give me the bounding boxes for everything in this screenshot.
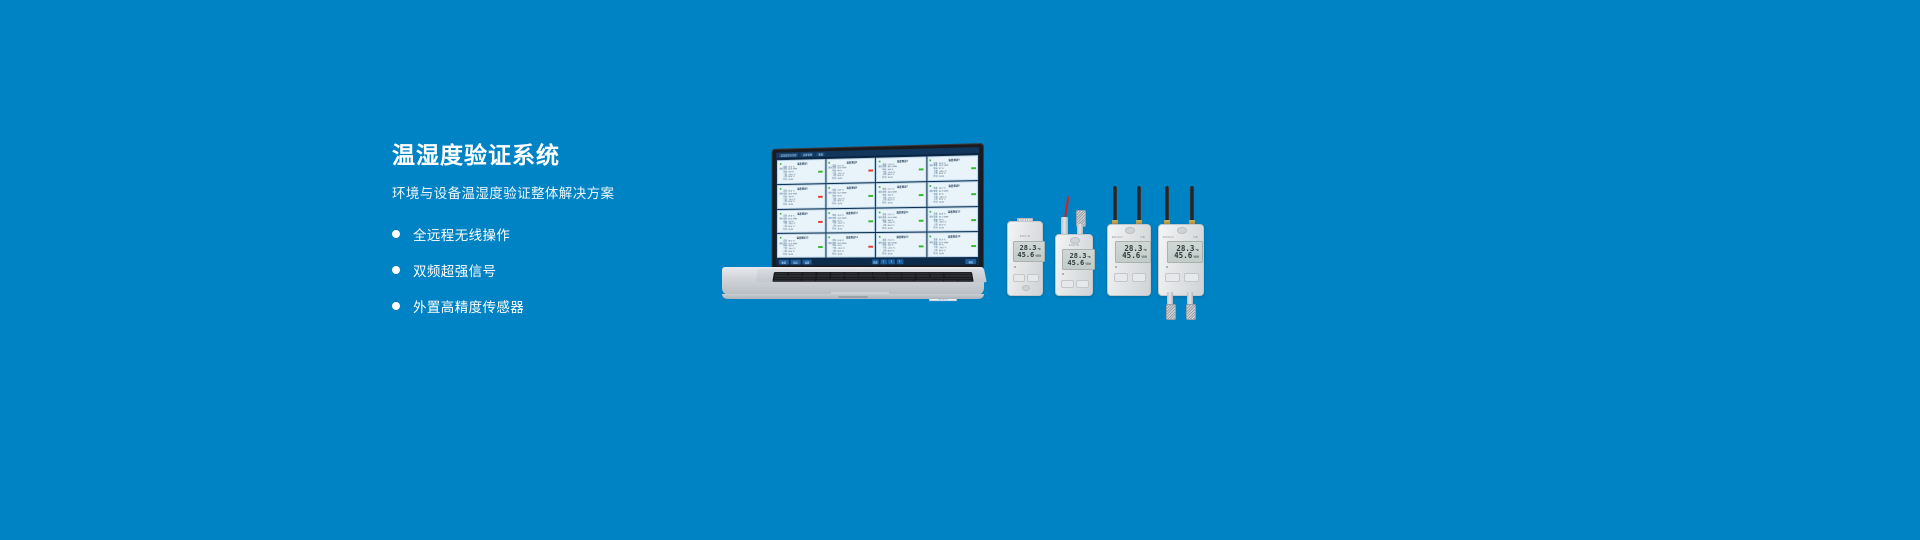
pagination: 首页 1 2 3: [872, 260, 903, 265]
sensor-row-key: 时间:: [878, 253, 887, 256]
lcd-hum-unit: %RH: [1085, 263, 1091, 266]
pager-home[interactable]: 首页: [872, 260, 879, 265]
bullet-icon: [392, 266, 400, 274]
device-data-logger: ENGIN 28.3 ℃ 45.6 %RH: [1007, 218, 1041, 294]
sensor-row-key: 时间:: [828, 178, 837, 181]
sensor-row-key: 时间:: [929, 253, 939, 256]
sensor-card-row: 时间:10:25: [929, 227, 975, 230]
sensor-card[interactable]: 温度测试13温度:28.1 ℃相对湿度:45.0 %RH电量:100 %下限:-…: [777, 234, 825, 258]
status-dot-icon: [929, 236, 931, 238]
bullet-icon: [392, 230, 400, 238]
probe-connector: [1061, 217, 1068, 235]
device-brand-label: ENGIN: [1163, 235, 1174, 239]
antenna-right: [1137, 186, 1141, 222]
laptop-lid: 温湿度验证系统 设备管理 数据 温度测试1温度:28.3 ℃相对湿度:45.6 …: [772, 143, 984, 276]
lcd-hum-unit: %RH: [1193, 256, 1199, 259]
sensor-card-row: 时间:10:25: [828, 253, 872, 256]
device-button-right[interactable]: [1076, 280, 1089, 288]
sensor-row-key: 时间:: [779, 254, 788, 257]
sensor-card[interactable]: 温度测试15温度:27.0 ℃相对湿度:48.9 %RH电量:100 %下限:-…: [876, 233, 926, 258]
sensor-card[interactable]: 温度测试16温度:26.3 ℃相对湿度:50.7 %RH电量:99 %下限:-2…: [927, 232, 978, 257]
sensor-card[interactable]: 温度测试7温度:27.2 ℃相对湿度:46.8 %RH电量:100 %下限:-2…: [876, 182, 926, 207]
exit-button[interactable]: 退出: [966, 259, 977, 264]
sensor-card-rows: 温度:24.9 ℃相对湿度:55.7 %RH电量:92 %下限:-20.0 ℃上…: [828, 189, 872, 206]
device-body: ENGIN 28.3 ℃ 45.6 %RH: [1007, 221, 1043, 296]
lcd-hum-unit: %RH: [1141, 256, 1147, 259]
status-dot-icon: [929, 159, 931, 161]
lcd-humidity-line: 45.6 %RH: [1122, 252, 1147, 260]
sensor-row-value: 10:25: [939, 227, 976, 230]
sensor-row-value: 10:25: [837, 228, 872, 231]
device-model-label: NB: [1193, 235, 1198, 239]
status-led-icon: [1166, 266, 1168, 268]
sensor-row-key: 时间:: [828, 253, 837, 256]
sensor-card[interactable]: 温度测试6温度:24.9 ℃相对湿度:55.7 %RH电量:92 %下限:-20…: [826, 183, 875, 208]
bullet-icon: [392, 302, 400, 310]
sensor-row-key: 时间:: [878, 202, 887, 205]
sensor-row-value: 10:25: [888, 227, 924, 230]
sensor-card-row: 时间:10:25: [929, 175, 975, 179]
sensor-row-key: 时间:: [828, 228, 837, 231]
app-bottom-bar: 新增 导出 设置 首页 1 2 3 退出: [776, 258, 979, 265]
sensor-row-key: 时间:: [828, 203, 837, 206]
tab-data[interactable]: 数据: [817, 152, 825, 156]
device-lcd-display: 28.3 ℃ 45.6 %RH: [1167, 241, 1203, 263]
status-dot-icon: [929, 185, 931, 187]
device-button-right[interactable]: [1184, 273, 1199, 282]
sensor-card-row: 时间:10:25: [929, 201, 975, 204]
sensor-card[interactable]: 温度测试2温度:25.1 ℃相对湿度:52.4 %RH电量:98 %下限:-20…: [826, 158, 875, 183]
list-item: 全远程无线操作: [392, 224, 732, 244]
sensor-row-value: 10:25: [788, 203, 822, 206]
list-item: 外置高精度传感器: [392, 296, 732, 316]
lcd-humidity-line: 45.6 %RH: [1174, 252, 1199, 260]
pager-page-1[interactable]: 1: [880, 260, 887, 265]
sensor-row-value: 10:25: [888, 253, 924, 256]
sensor-card-rows: 温度:26.8 ℃相对湿度:51.1 %RH电量:96 %下限:-20.0 ℃上…: [929, 213, 975, 230]
sensor-row-value: 10:25: [939, 253, 976, 256]
sensor-card-rows: 温度:26.1 ℃相对湿度:49.5 %RH电量:95 %下限:-20.0 ℃上…: [929, 188, 975, 205]
sensor-card-row: 时间:10:25: [828, 203, 872, 206]
status-dot-icon: [828, 187, 830, 189]
status-dot-icon: [779, 237, 781, 239]
lcd-hum-value: 45.6: [1067, 260, 1084, 267]
banner-copy-block: 温湿度验证系统 环境与设备温湿度验证整体解决方案 全远程无线操作 双频超强信号 …: [392, 140, 732, 332]
pager-page-3[interactable]: 3: [896, 260, 903, 265]
sensor-card-rows: 温度:27.0 ℃相对湿度:48.9 %RH电量:100 %下限:-20.0 ℃…: [878, 239, 923, 255]
sensor-card[interactable]: 温度测试8温度:26.1 ℃相对湿度:49.5 %RH电量:95 %下限:-20…: [927, 181, 978, 207]
device-brand-label: ENGIN: [1112, 235, 1123, 239]
sensor-card[interactable]: 温度测试11温度:27.5 ℃相对湿度:47.6 %RH电量:100 %下限:-…: [876, 207, 926, 232]
device-button-left[interactable]: [1165, 273, 1180, 282]
sensor-card-rows: 温度:25.1 ℃相对湿度:52.4 %RH电量:98 %下限:-20.0 ℃上…: [828, 164, 872, 181]
laptop-screen: 温湿度验证系统 设备管理 数据 温度测试1温度:28.3 ℃相对湿度:45.6 …: [776, 147, 979, 265]
device-model-label: NB: [1140, 235, 1145, 239]
status-led-icon: [1115, 266, 1117, 268]
sensor-row-key: 时间:: [929, 176, 939, 179]
laptop-open-notch: [838, 296, 868, 298]
sensor-card-rows: 温度:28.3 ℃相对湿度:45.6 %RH电量:100 %下限:-20.0 ℃…: [779, 165, 822, 182]
feature-list: 全远程无线操作 双频超强信号 外置高精度传感器: [392, 224, 732, 316]
sensor-card[interactable]: 温度测试9温度:28.6 ℃相对湿度:43.2 %RH电量:100 %下限:-2…: [777, 209, 825, 233]
tab-monitor[interactable]: 温湿度验证系统: [779, 153, 799, 158]
sensor-card[interactable]: 温度测试1温度:28.3 ℃相对湿度:45.6 %RH电量:100 %下限:-2…: [777, 159, 825, 184]
sensor-card-row: 时间:10:25: [828, 177, 872, 181]
sensor-card-rows: 温度:26.5 ℃相对湿度:50.2 %RH电量:97 %下限:-20.0 ℃上…: [929, 162, 975, 179]
sensor-row-value: 10:25: [888, 176, 924, 179]
device-lcd-display: 28.3 ℃ 45.6 %RH: [1115, 241, 1151, 263]
hanging-hole: [1070, 237, 1080, 244]
sensor-row-key: 时间:: [779, 204, 788, 207]
status-dot-icon: [878, 211, 880, 213]
sensor-card-rows: 温度:25.8 ℃相对湿度:54.2 %RH电量:93 %下限:-20.0 ℃上…: [828, 240, 872, 256]
sensor-row-key: 时间:: [929, 202, 939, 205]
device-body: ENGIN NB 28.3 ℃ 45.6 %RH: [1158, 224, 1204, 296]
page-title: 温湿度验证系统: [392, 140, 732, 170]
status-dot-icon: [828, 162, 830, 164]
sensor-row-key: 时间:: [779, 229, 788, 232]
lcd-temp-unit: ℃: [1087, 256, 1091, 259]
lcd-temp-unit: ℃: [1037, 248, 1041, 251]
probe-cable: [1064, 196, 1069, 218]
sensor-card-rows: 温度:27.8 ℃相对湿度:48.1 %RH电量:100 %下限:-20.0 ℃…: [878, 163, 923, 180]
device-body: ENGIN 28.3 ℃ 45.6 %RH: [1055, 234, 1093, 296]
hanging-hole: [1125, 227, 1135, 234]
sensor-card-rows: 温度:28.1 ℃相对湿度:45.0 %RH电量:100 %下限:-20.0 ℃…: [779, 240, 822, 256]
laptop-keyboard: [772, 272, 973, 282]
device-lcd-display: 28.3 ℃ 45.6 %RH: [1062, 249, 1095, 270]
sensor-card-row: 时间:10:25: [929, 253, 975, 256]
sensor-row-value: 10:25: [837, 203, 872, 206]
sensor-card-grid: 温度测试1温度:28.3 ℃相对湿度:45.6 %RH电量:100 %下限:-2…: [776, 154, 979, 259]
status-dot-icon: [779, 163, 781, 165]
lcd-hum-value: 45.6: [1017, 252, 1034, 259]
sensor-card-rows: 温度:27.2 ℃相对湿度:46.8 %RH电量:100 %下限:-20.0 ℃…: [878, 189, 923, 206]
status-dot-icon: [779, 188, 781, 190]
sensor-row-key: 时间:: [878, 177, 887, 180]
status-dot-icon: [828, 212, 830, 214]
antenna-left: [1113, 186, 1117, 222]
hanging-hole: [1177, 227, 1187, 234]
sensor-card-rows: 温度:28.0 ℃相对湿度:44.3 %RH电量:100 %下限:-20.0 ℃…: [779, 190, 822, 206]
status-dot-icon: [828, 237, 830, 239]
page-subtitle: 环境与设备温湿度验证整体解决方案: [392, 184, 732, 204]
product-banner: 温湿度验证系统 环境与设备温湿度验证整体解决方案 全远程无线操作 双频超强信号 …: [0, 0, 1920, 540]
lcd-humidity-line: 45.6 %RH: [1017, 252, 1041, 259]
key-row: [773, 280, 972, 281]
lcd-hum-value: 45.6: [1122, 252, 1140, 260]
sensor-card[interactable]: 温度测试4温度:26.5 ℃相对湿度:50.2 %RH电量:97 %下限:-20…: [927, 155, 978, 181]
status-dot-icon: [878, 186, 880, 188]
feature-label: 全远程无线操作: [413, 224, 510, 244]
sensor-row-value: 10:25: [788, 228, 822, 231]
probe-sensor-head-left: [1166, 304, 1176, 320]
sensor-row-value: 10:25: [939, 201, 976, 204]
sensor-card-row: 时间:10:25: [779, 179, 822, 183]
sensor-card-row: 时间:10:25: [828, 228, 872, 231]
device-probe-logger: ENGIN 28.3 ℃ 45.6 %RH: [1055, 196, 1091, 294]
sensor-card-row: 时间:10:25: [779, 228, 822, 231]
sensor-row-value: 10:25: [888, 202, 924, 205]
settings-button[interactable]: 设置: [802, 260, 812, 265]
sensor-card-row: 时间:10:25: [878, 227, 923, 230]
pager-page-2[interactable]: 2: [888, 260, 895, 265]
probe-sensor-head-right: [1186, 304, 1196, 320]
sensor-card-row: 时间:10:25: [878, 253, 923, 256]
sensor-row-key: 时间:: [878, 228, 887, 231]
sensor-row-value: 10:25: [939, 175, 976, 178]
device-button-right[interactable]: [1027, 274, 1039, 282]
sensor-card[interactable]: 温度测试5温度:28.0 ℃相对湿度:44.3 %RH电量:100 %下限:-2…: [777, 184, 825, 209]
lcd-hum-value: 45.6: [1174, 252, 1192, 260]
device-brand-label: ENGIN: [1008, 235, 1042, 238]
add-button[interactable]: 新增: [779, 260, 789, 265]
sensor-row-value: 10:25: [837, 177, 872, 180]
sensor-card-rows: 温度:26.3 ℃相对湿度:50.7 %RH电量:99 %下限:-20.0 ℃上…: [929, 239, 975, 255]
sensor-row-key: 时间:: [929, 227, 939, 230]
sensor-card-rows: 温度:27.5 ℃相对湿度:47.6 %RH电量:100 %下限:-20.0 ℃…: [878, 214, 923, 230]
device-lcd-display: 28.3 ℃ 45.6 %RH: [1013, 241, 1045, 262]
sensor-card[interactable]: 温度测试10温度:25.4 ℃相对湿度:53.0 %RH电量:90 %下限:-2…: [826, 208, 875, 233]
list-item: 双频超强信号: [392, 260, 732, 280]
sensor-card-row: 时间:10:25: [878, 202, 923, 205]
tab-devices[interactable]: 设备管理: [801, 152, 814, 157]
device-button-left[interactable]: [1114, 273, 1128, 282]
lcd-hum-unit: %RH: [1035, 255, 1041, 258]
status-dot-icon: [878, 161, 880, 163]
sensor-row-key: 时间:: [779, 179, 788, 182]
export-button[interactable]: 导出: [790, 260, 800, 265]
lcd-humidity-line: 45.6 %RH: [1067, 260, 1091, 267]
status-dot-icon: [929, 210, 931, 212]
device-dual-antenna-probe-logger: ENGIN NB 28.3 ℃ 45.6 %RH: [1158, 186, 1202, 318]
sensor-card-rows: 温度:25.4 ℃相对湿度:53.0 %RH电量:90 %下限:-20.0 ℃上…: [828, 215, 872, 231]
sensor-card[interactable]: 温度测试3温度:27.8 ℃相对湿度:48.1 %RH电量:100 %下限:-2…: [876, 156, 926, 182]
sensor-card-row: 时间:10:25: [779, 253, 822, 256]
sensor-card-row: 时间:10:25: [779, 203, 822, 206]
feature-label: 双频超强信号: [413, 260, 496, 280]
sensor-card[interactable]: 温度测试12温度:26.8 ℃相对湿度:51.1 %RH电量:96 %下限:-2…: [927, 207, 978, 232]
sensor-row-value: 10:25: [788, 179, 822, 182]
feature-label: 外置高精度传感器: [413, 296, 524, 316]
antenna-left: [1165, 186, 1169, 222]
sensor-row-value: 10:25: [788, 253, 822, 256]
status-led-icon: [1014, 266, 1016, 268]
device-body: ENGIN NB 28.3 ℃ 45.6 %RH: [1107, 224, 1151, 296]
sensor-row-value: 10:25: [837, 253, 872, 256]
status-led-icon: [1062, 273, 1064, 275]
hanging-hole: [1022, 285, 1030, 291]
device-button-right[interactable]: [1132, 273, 1146, 282]
antenna-right: [1190, 186, 1194, 222]
device-dual-antenna-logger: ENGIN NB 28.3 ℃ 45.6 %RH: [1107, 186, 1149, 294]
sensor-card-rows: 温度:28.6 ℃相对湿度:43.2 %RH电量:100 %下限:-20.0 ℃…: [779, 215, 822, 231]
sensor-card[interactable]: 温度测试14温度:25.8 ℃相对湿度:54.2 %RH电量:93 %下限:-2…: [826, 233, 875, 257]
status-dot-icon: [878, 236, 880, 238]
laptop-illustration: 温湿度验证系统 设备管理 数据 温度测试1温度:28.3 ℃相对湿度:45.6 …: [722, 143, 984, 295]
sensor-card-row: 时间:10:25: [878, 176, 923, 180]
device-brand-label: ENGIN: [1056, 244, 1092, 247]
device-button-left[interactable]: [1061, 280, 1074, 288]
device-button-left[interactable]: [1013, 274, 1025, 282]
status-dot-icon: [779, 212, 781, 214]
